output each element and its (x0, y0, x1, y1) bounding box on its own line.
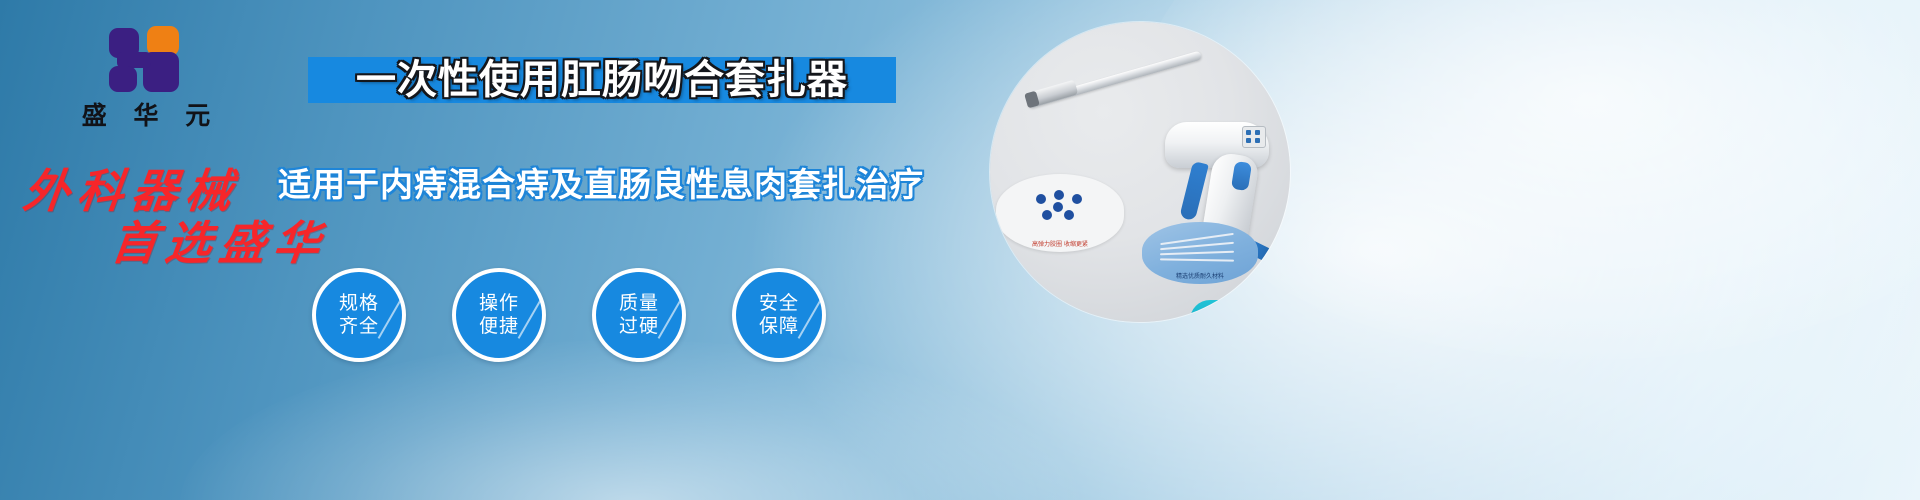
feature-badge-line2: 保障 (759, 315, 799, 338)
feature-badge-line1: 操作 (479, 292, 519, 315)
cartridge-tip (1194, 313, 1206, 322)
slogan-line-2: 首选盛华 (108, 207, 332, 273)
rubber-band-dot (1042, 210, 1052, 220)
feature-badge-safety[interactable]: 安全 保障 (732, 268, 826, 362)
needle (1160, 258, 1234, 261)
product-photo: 高弹力胶圈 收缩更紧 精选优质耐久材料 (990, 22, 1290, 322)
rubber-band-dot (1053, 202, 1063, 212)
brand-logo[interactable]: 盛 华 元 (56, 26, 236, 132)
instrument-control-panel (1242, 126, 1266, 148)
brand-wordmark: 盛 华 元 (56, 96, 236, 132)
feature-badge-quality[interactable]: 质量 过硬 (592, 268, 686, 362)
rubber-band-dot (1064, 210, 1074, 220)
slash-decor-icon (658, 291, 686, 339)
panel-dot (1255, 130, 1260, 135)
logo-mark-icon (103, 26, 189, 92)
feature-badge-line1: 质量 (619, 292, 659, 315)
inset-cartridge (1190, 300, 1290, 322)
subtitle: 适用于内痔混合痔及直肠良性息肉套扎治疗 (276, 158, 926, 206)
cartridge-stripe (1244, 310, 1250, 322)
rubber-band-dot (1036, 194, 1046, 204)
feature-badge-line1: 安全 (759, 292, 799, 315)
inset-needle-set: 精选优质耐久材料 (1142, 222, 1258, 284)
slash-decor-icon (798, 291, 826, 339)
rubber-band-dot (1072, 194, 1082, 204)
feature-badge-specification[interactable]: 规格 齐全 (312, 268, 406, 362)
feature-badge-line1: 规格 (339, 292, 379, 315)
page-title: 一次性使用肛肠吻合套扎器 (308, 52, 896, 108)
panel-dot (1246, 138, 1251, 143)
feature-badge-line2: 过硬 (619, 315, 659, 338)
bottom-light-glow (180, 340, 1080, 500)
slash-decor-icon (378, 291, 406, 339)
panel-dot (1255, 138, 1260, 143)
logo-square-bottom-left (109, 66, 137, 92)
feature-badge-line2: 便捷 (479, 315, 519, 338)
inset-bands-caption: 高弹力胶圈 收缩更紧 (996, 239, 1124, 248)
slash-decor-icon (518, 291, 546, 339)
inset-rubber-bands: 高弹力胶圈 收缩更紧 (996, 174, 1124, 252)
feature-badge-operation[interactable]: 操作 便捷 (452, 268, 546, 362)
feature-badge-line2: 齐全 (339, 315, 379, 338)
inset-needles-caption: 精选优质耐久材料 (1142, 271, 1258, 280)
cartridge-body (1202, 310, 1282, 322)
rubber-band-dot (1054, 190, 1064, 200)
panel-dot (1246, 130, 1251, 135)
product-promo-banner: 盛 华 元 外科器械 首选盛华 一次性使用肛肠吻合套扎器 适用于内痔混合痔及直肠… (0, 0, 1920, 500)
needle (1160, 251, 1234, 256)
feature-badge-group: 规格 齐全 操作 便捷 质量 过硬 安全 保障 (312, 268, 832, 364)
